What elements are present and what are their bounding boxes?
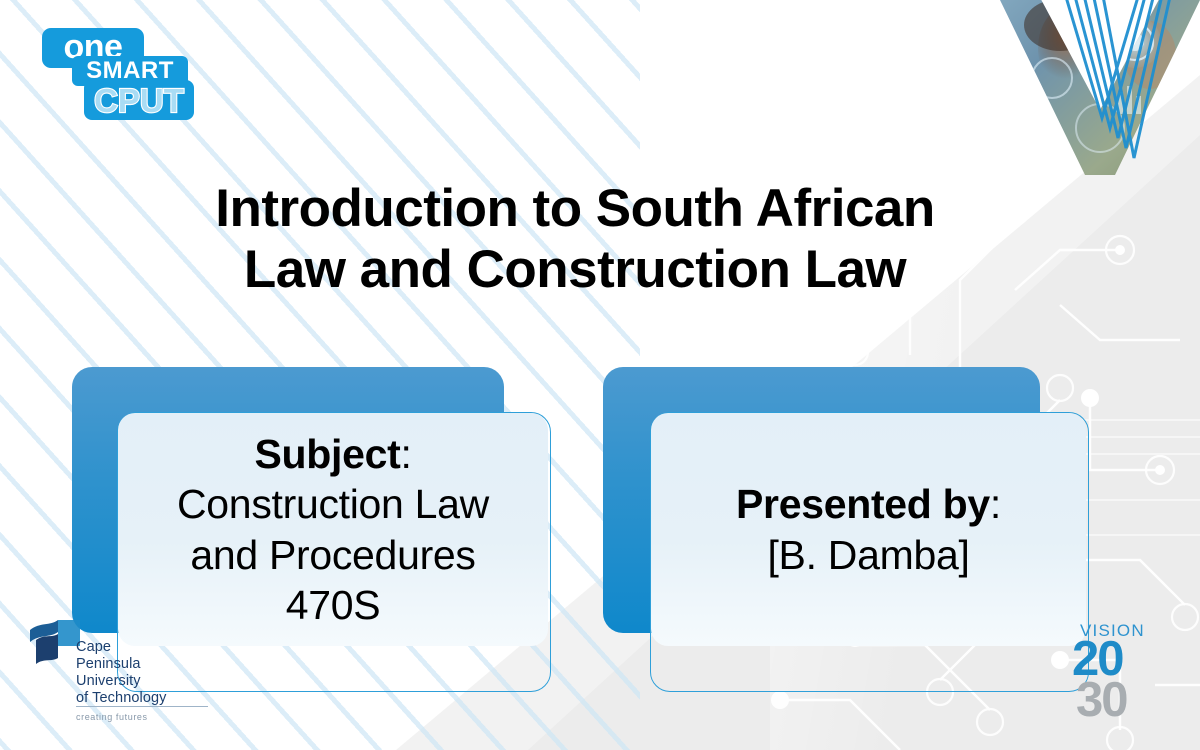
subject-card-front-panel: Subject: Construction Law and Procedures… (118, 413, 548, 646)
presenter-value-line-1: [B. Damba] (736, 530, 1001, 580)
cput-name-line-3: University (76, 673, 167, 690)
presenter-card-text: Presented by: [B. Damba] (730, 479, 1007, 579)
presenter-label: Presented by (736, 481, 990, 527)
cput-name-line-1: Cape (76, 639, 167, 656)
presentation-slide: one SMART CPUT Introduction to South Afr… (0, 0, 1200, 750)
cput-name-line-4: of Technology (76, 690, 167, 707)
presenter-card-front-panel: Presented by: [B. Damba] (651, 413, 1086, 646)
slide-title-line-1: Introduction to South African (110, 178, 1040, 239)
vision-2030-logo: VISION 20 30 (1072, 622, 1182, 742)
subject-value-line-1: Construction Law (177, 479, 489, 529)
cput-footer-logo: Cape Peninsula University of Technology … (28, 616, 208, 734)
subject-label: Subject (254, 431, 400, 477)
subject-value-line-2: and Procedures (177, 530, 489, 580)
one-smart-cput-logo: one SMART CPUT (42, 28, 212, 120)
vision-year-bottom: 30 (1072, 679, 1182, 721)
cput-name-text: Cape Peninsula University of Technology (76, 639, 167, 707)
slide-title-line-2: Law and Construction Law (110, 239, 1040, 300)
subject-separator: : (400, 431, 411, 477)
presenter-card-heading: Presented by: (736, 479, 1001, 529)
chevron-photo-decoration (1000, 0, 1200, 200)
cput-tagline: creating futures (76, 712, 148, 722)
subject-card-text: Subject: Construction Law and Procedures… (171, 429, 495, 629)
slide-title: Introduction to South African Law and Co… (110, 178, 1040, 301)
cput-name-line-2: Peninsula (76, 656, 167, 673)
subject-value-line-3: 470S (177, 580, 489, 630)
presenter-separator: : (990, 481, 1001, 527)
subject-card-heading: Subject: (177, 429, 489, 479)
logo-text-cput: CPUT (84, 80, 194, 120)
cput-divider (76, 706, 208, 707)
